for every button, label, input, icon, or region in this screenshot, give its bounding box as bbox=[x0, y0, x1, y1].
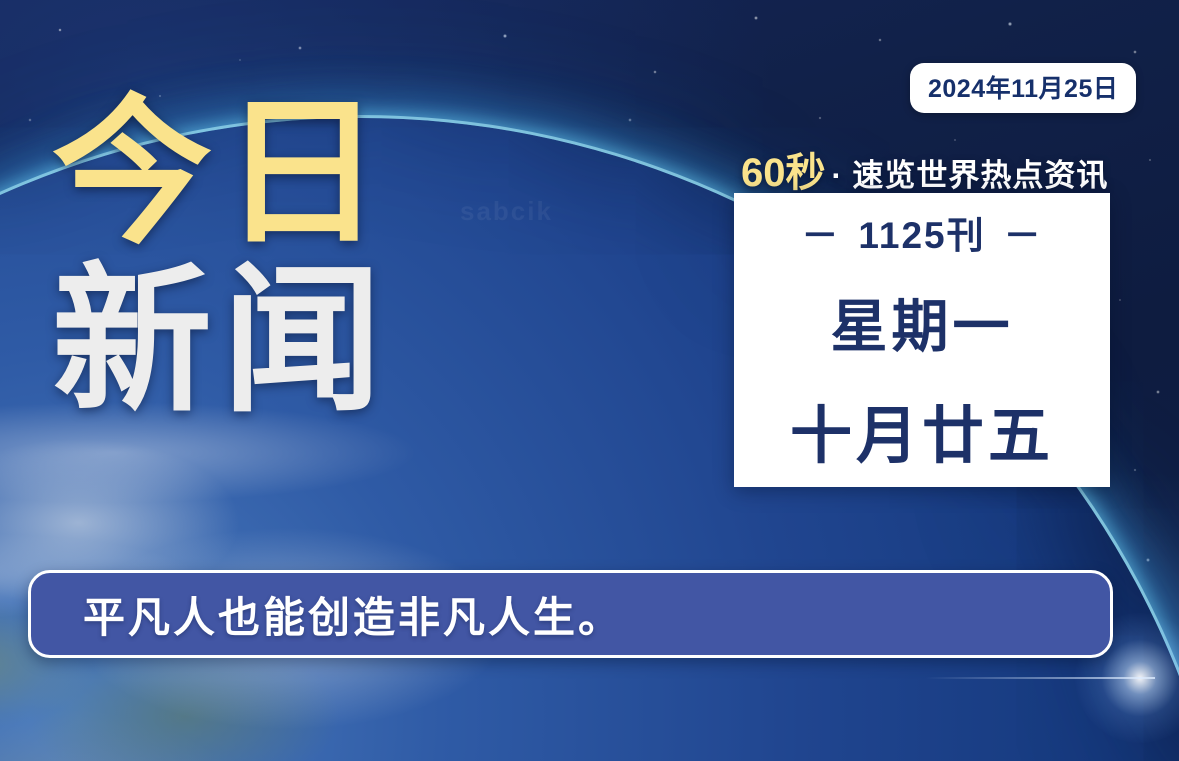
issue-dash-right: － bbox=[1004, 205, 1043, 259]
quote-bar: 平凡人也能创造非凡人生。 bbox=[28, 570, 1113, 658]
page-title-line-2: 新闻 bbox=[52, 264, 392, 418]
tagline: 60秒· 速览世界热点资讯 bbox=[741, 140, 1108, 198]
issue-dash-left: － bbox=[801, 205, 840, 259]
tagline-highlight: 60秒 bbox=[741, 151, 826, 195]
issue-row: － 1125刊 － bbox=[801, 205, 1042, 259]
page-title-line-1: 今日 bbox=[52, 96, 392, 250]
issue-number: 1125刊 bbox=[858, 205, 985, 259]
quote-text: 平凡人也能创造非凡人生。 bbox=[83, 584, 623, 645]
issue-card: － 1125刊 － 星期一 十月廿五 bbox=[734, 193, 1110, 487]
date-badge: 2024年11月25日 bbox=[910, 63, 1136, 113]
watermark-text: sabcik bbox=[460, 196, 553, 227]
weekday-label: 星期一 bbox=[831, 281, 1014, 363]
page-title: 今日 新闻 bbox=[52, 96, 392, 417]
news-poster: sabcik 今日 新闻 2024年11月25日 60秒· 速览世界热点资讯 －… bbox=[0, 0, 1179, 761]
tagline-rest: · 速览世界热点资讯 bbox=[832, 158, 1109, 193]
lunar-date-label: 十月廿五 bbox=[790, 385, 1054, 475]
